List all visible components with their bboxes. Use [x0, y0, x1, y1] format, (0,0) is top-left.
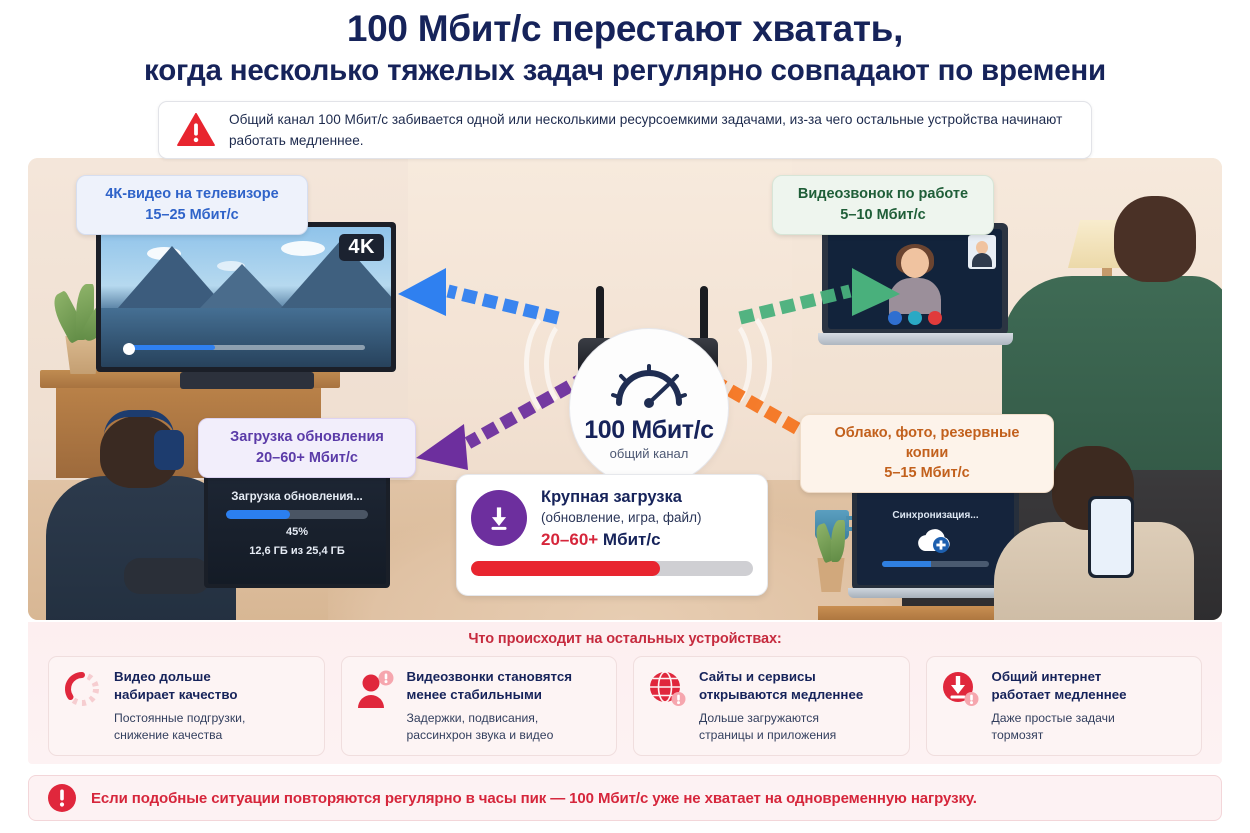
detail-line-2: страницы и приложения [699, 727, 863, 744]
sync-progress-fill [882, 561, 931, 567]
tag-call-rate: 5–10 Мбит/с [789, 205, 977, 225]
consequence-detail: Задержки, подвисания, рассинхрон звука и… [407, 710, 573, 744]
big-download-progress-fill [471, 561, 660, 576]
tag-call-title: Видеозвонок по работе [789, 185, 977, 205]
tag-tv-4k: 4К-видео на телевизоре 15–25 Мбит/с [76, 175, 308, 235]
consequence-text: Видео дольше набирает качество Постоянны… [114, 668, 245, 744]
videocall-laptop [818, 223, 1013, 351]
big-download-progress-bar [471, 561, 753, 576]
monitor-progress-fill [226, 510, 290, 519]
gaming-monitor-screen: Загрузка обновления... 45% 12,6 ГБ из 25… [208, 464, 386, 584]
big-download-title: Крупная загрузка [541, 487, 701, 508]
sync-progress-bar [882, 561, 989, 567]
tag-download-rate: 20–60+ Мбит/с [215, 448, 399, 468]
tv-playback-fill [127, 345, 215, 350]
consequences-title: Что происходит на остальных устройствах: [28, 622, 1222, 647]
tag-cloud-rate: 5–15 Мбит/с [817, 463, 1037, 483]
laptop-base [818, 333, 1013, 345]
tag-video-call: Видеозвонок по работе 5–10 Мбит/с [772, 175, 994, 235]
consequence-text: Видеозвонки становятся менее стабильными… [407, 668, 573, 744]
smartphone [1088, 496, 1134, 578]
callee-body [889, 278, 941, 314]
tv-playback-bar[interactable] [127, 345, 365, 350]
tv-4k-badge: 4K [339, 234, 384, 261]
headphones-cup-icon [154, 430, 184, 470]
detail-line-1: Дольше загружаются [699, 710, 863, 727]
heading-line-2: открываются медленнее [699, 686, 863, 704]
television: 4K [96, 222, 396, 372]
consequence-card: Видеозвонки становятся менее стабильными… [341, 656, 618, 756]
router-antenna-left [596, 286, 604, 342]
hub-speed-value: 100 Мбит/с [584, 416, 713, 445]
detail-line-1: Задержки, подвисания, [407, 710, 573, 727]
consequence-card: Общий интернет работает медленнее Даже п… [926, 656, 1203, 756]
consequence-text: Общий интернет работает медленнее Даже п… [992, 668, 1127, 744]
speedometer-icon [611, 359, 687, 414]
heading-line-1: Видеозвонки становятся [407, 668, 573, 686]
big-download-rate-unit: Мбит/с [598, 530, 660, 549]
detail-line-2: рассинхрон звука и видео [407, 727, 573, 744]
monitor-size: 12,6 ГБ из 25,4 ГБ [249, 545, 345, 557]
sync-screen: Синхронизация... [857, 491, 1014, 585]
detail-line-2: снижение качества [114, 727, 245, 744]
footer-banner: Если подобные ситуации повторяются регул… [28, 775, 1222, 821]
self-view-body [972, 253, 992, 267]
heading-line-2: работает медленнее [992, 686, 1127, 704]
person-alert-icon [354, 668, 396, 710]
sync-title: Синхронизация... [892, 510, 978, 521]
smartphone-screen [1091, 499, 1131, 575]
hub-speed-label: общий канал [610, 446, 689, 461]
consequence-heading: Общий интернет работает медленнее [992, 668, 1127, 703]
heading-line-1: Видео дольше [114, 668, 245, 686]
camera-button-icon[interactable] [908, 311, 922, 325]
consequence-card: Видео дольше набирает качество Постоянны… [48, 656, 325, 756]
consequence-text: Сайты и сервисы открываются медленнее До… [699, 668, 863, 744]
heading-line-2: менее стабильными [407, 686, 573, 704]
soundbar [180, 372, 314, 389]
hangup-button-icon[interactable] [928, 311, 942, 325]
heading-line-1: Сайты и сервисы [699, 668, 863, 686]
heading-line-1: Общий интернет [992, 668, 1127, 686]
lake-shape [101, 308, 391, 367]
consequence-heading: Видеозвонки становятся менее стабильными [407, 668, 573, 703]
consequences-cards: Видео дольше набирает качество Постоянны… [28, 647, 1222, 756]
page-title-line2: когда несколько тяжелых задач регулярно … [0, 53, 1250, 88]
big-download-text: Крупная загрузка (обновление, игра, файл… [541, 487, 701, 550]
callee-avatar [882, 248, 948, 314]
gamepad [124, 558, 210, 594]
detail-line-2: тормозят [992, 727, 1127, 744]
page-header: 100 Мбит/с перестают хватать, когда неск… [0, 0, 1250, 89]
consequences-panel: Что происходит на остальных устройствах:… [28, 622, 1222, 764]
shared-channel-hub: 100 Мбит/с общий канал [569, 328, 729, 488]
tag-tv-title: 4К-видео на телевизоре [93, 185, 291, 205]
tag-cloud-title: Облако, фото, резервные копии [817, 424, 1037, 463]
monitor-title: Загрузка обновления... [231, 491, 362, 503]
warning-banner: Общий канал 100 Мбит/с забивается одной … [158, 101, 1092, 159]
laptop-lid [822, 223, 1008, 335]
big-download-card: Крупная загрузка (обновление, игра, файл… [456, 474, 768, 596]
download-alert-icon [939, 668, 981, 710]
monitor-percent: 45% [286, 526, 308, 538]
buffering-spinner-icon [61, 668, 103, 710]
consequence-detail: Даже простые задачи тормозят [992, 710, 1127, 744]
consequence-card: Сайты и сервисы открываются медленнее До… [633, 656, 910, 756]
tv-playback-knob[interactable] [123, 343, 135, 355]
consequence-heading: Видео дольше набирает качество [114, 668, 245, 703]
info-button-icon[interactable] [888, 311, 902, 325]
warning-triangle-icon [177, 113, 215, 147]
detail-line-1: Постоянные подгрузки, [114, 710, 245, 727]
cloud-sync-icon [914, 527, 958, 555]
alert-circle-icon [47, 783, 77, 813]
gaming-monitor: Загрузка обновления... 45% 12,6 ГБ из 25… [204, 460, 390, 588]
tag-download-title: Загрузка обновления [215, 428, 399, 448]
download-circle-icon [471, 490, 527, 546]
tag-cloud-backup: Облако, фото, резервные копии 5–15 Мбит/… [800, 414, 1054, 493]
big-download-row: Крупная загрузка (обновление, игра, файл… [471, 487, 753, 550]
mountain-shape [200, 264, 284, 308]
tag-tv-rate: 15–25 Мбит/с [93, 205, 291, 225]
big-download-rate: 20–60+ Мбит/с [541, 530, 701, 550]
consequence-heading: Сайты и сервисы открываются медленнее [699, 668, 863, 703]
footer-banner-text: Если подобные ситуации повторяются регул… [91, 790, 977, 807]
monitor-progress-bar [226, 510, 368, 519]
videocall-screen [828, 229, 1002, 329]
self-view-thumbnail [968, 235, 996, 269]
warning-banner-text: Общий канал 100 Мбит/с забивается одной … [229, 109, 1073, 151]
infographic-page: 100 Мбит/с перестают хватать, когда неск… [0, 0, 1250, 833]
consequence-detail: Дольше загружаются страницы и приложения [699, 710, 863, 744]
call-controls[interactable] [888, 311, 942, 325]
tv-screen: 4K [101, 227, 391, 367]
big-download-subtitle: (обновление, игра, файл) [541, 509, 701, 527]
globe-alert-icon [646, 668, 688, 710]
page-title-line1: 100 Мбит/с перестают хватать, [0, 8, 1250, 49]
big-download-rate-value: 20–60+ [541, 530, 598, 549]
detail-line-1: Даже простые задачи [992, 710, 1127, 727]
man-head [1114, 196, 1196, 282]
tag-update-download: Загрузка обновления 20–60+ Мбит/с [198, 418, 416, 478]
heading-line-2: набирает качество [114, 686, 245, 704]
callee-head [901, 248, 929, 278]
consequence-detail: Постоянные подгрузки, снижение качества [114, 710, 245, 744]
